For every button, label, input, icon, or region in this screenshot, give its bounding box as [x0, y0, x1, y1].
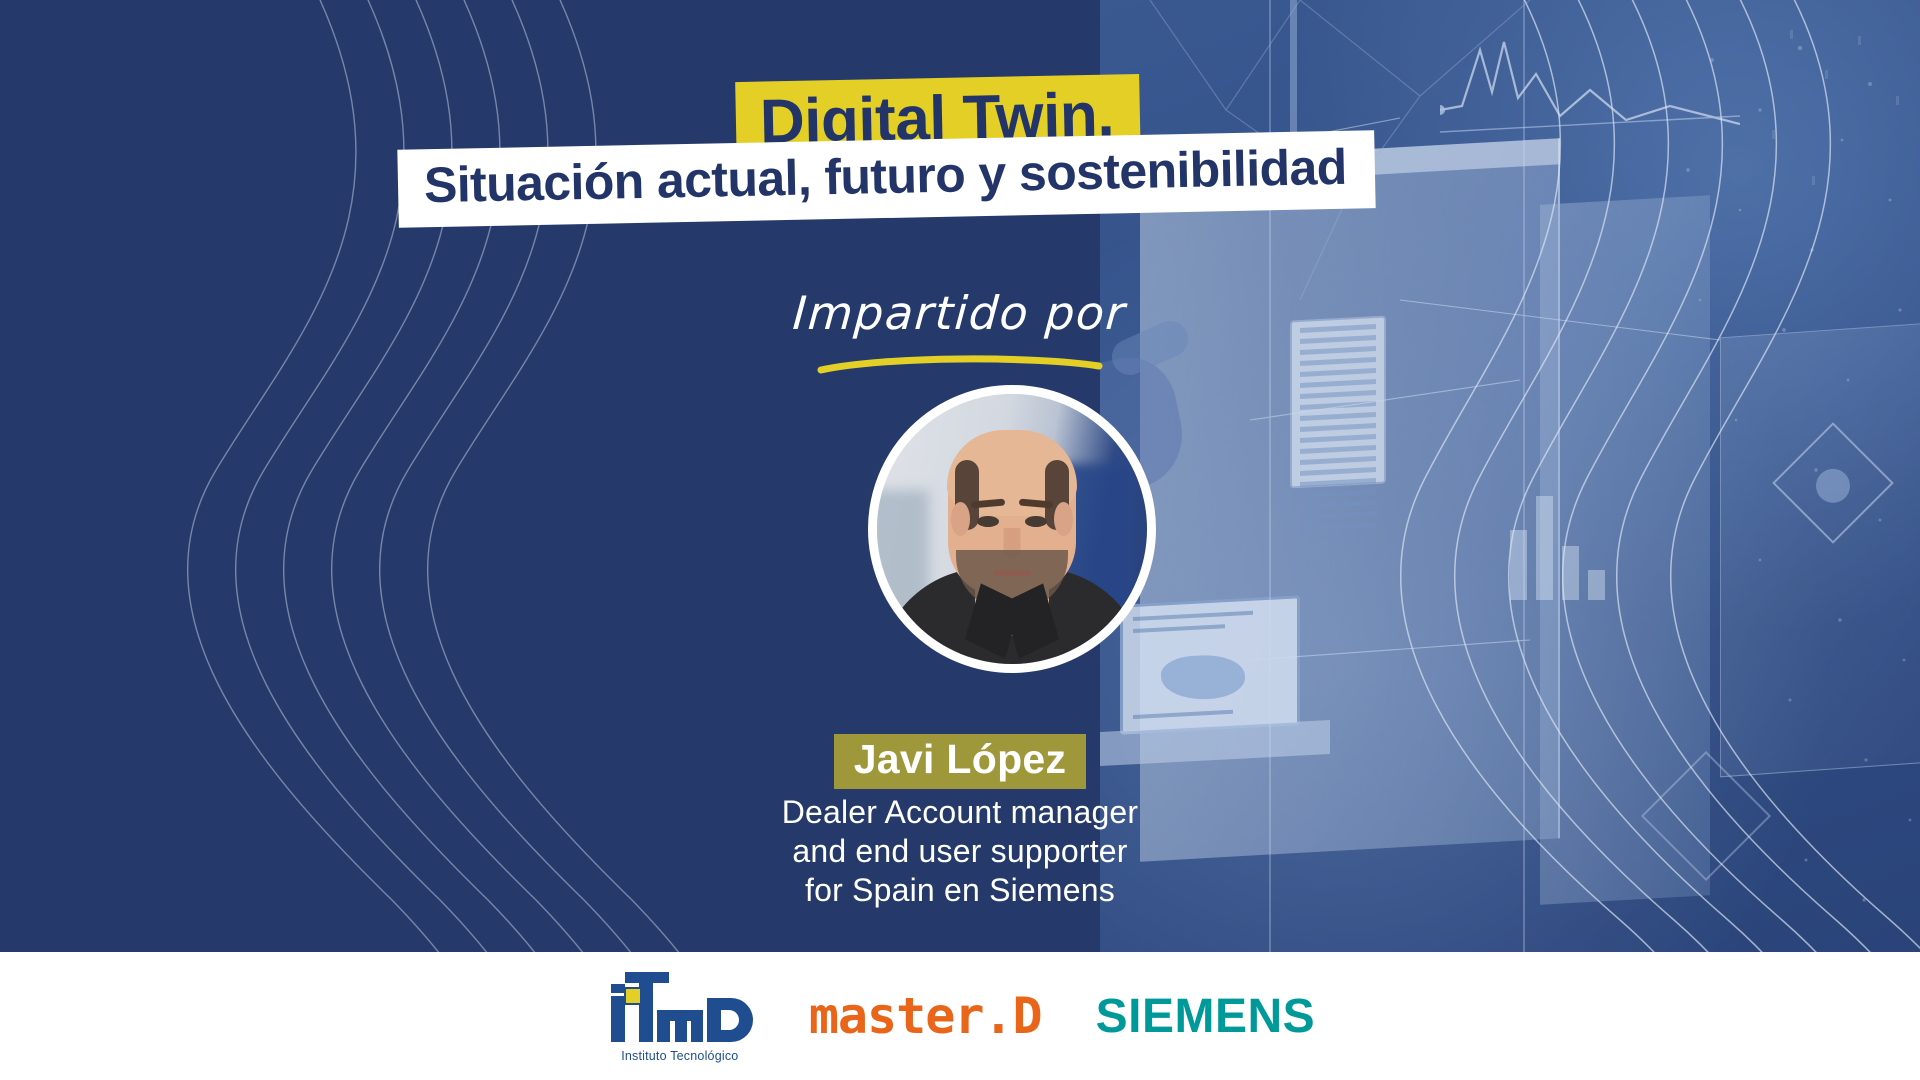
- logo-siemens: SIEMENS: [1096, 989, 1316, 1044]
- siemens-logo-wordmark: SIEMENS: [1096, 989, 1316, 1044]
- speaker-name: Javi López: [834, 734, 1087, 789]
- itmd-logo-tagline: Instituto Tecnológico: [621, 1049, 738, 1063]
- logo-itmd: Instituto Tecnológico: [605, 970, 755, 1063]
- presenter-intro-underline-icon: [815, 350, 1105, 376]
- speaker-role: Dealer Account manager and end user supp…: [0, 793, 1920, 910]
- presenter-intro: Impartido por: [0, 286, 1920, 340]
- speaker-name-row: Javi López: [0, 734, 1920, 789]
- title-secondary-text: Situación actual, futuro y sostenibilida…: [423, 140, 1347, 213]
- masterd-logo-wordmark: master.D: [809, 987, 1042, 1045]
- footer-logo-bar: Instituto Tecnológico master.D SIEMENS: [0, 952, 1920, 1080]
- speaker-role-line-1: Dealer Account manager: [0, 793, 1920, 832]
- speaker-avatar: [868, 385, 1156, 673]
- speaker-role-line-3: for Spain en Siemens: [0, 871, 1920, 910]
- itmd-logo-mark-icon: [605, 970, 755, 1044]
- presenter-intro-label: Impartido por: [792, 286, 1129, 340]
- speaker-role-line-2: and end user supporter: [0, 832, 1920, 871]
- webinar-promo-banner: Digital Twin. Situación actual, futuro y…: [0, 0, 1920, 1080]
- logo-masterd: master.D: [809, 987, 1042, 1045]
